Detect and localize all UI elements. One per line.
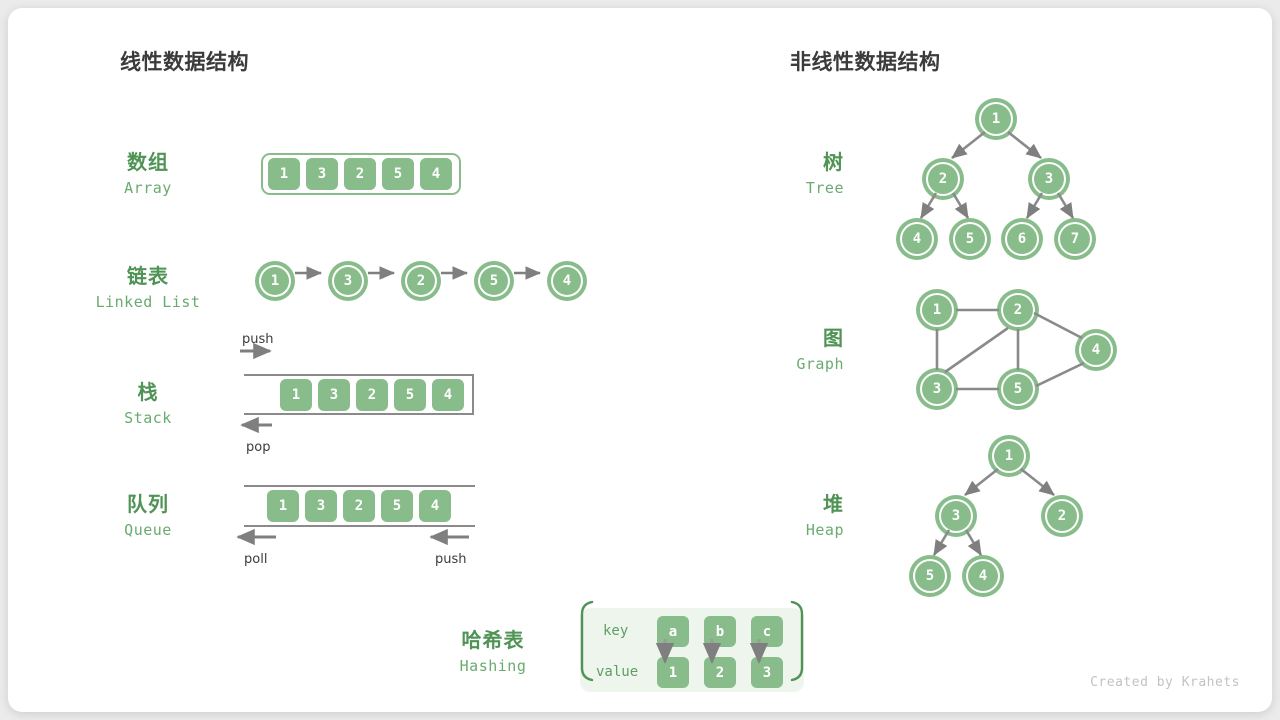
diagram-stage: 线性数据结构 非线性数据结构 数组 Array 1 3 2 5 4 链表 Lin… — [8, 8, 1272, 712]
queue-poll-label: poll — [244, 552, 267, 567]
label-queue-cn: 队列 — [88, 492, 208, 518]
label-tree-en: Tree — [708, 176, 844, 200]
label-array-cn: 数组 — [88, 150, 208, 176]
heap-node: 4 — [966, 559, 1000, 593]
heap-node: 2 — [1045, 499, 1079, 533]
queue-cell: 3 — [305, 490, 337, 522]
label-heap-en: Heap — [708, 518, 844, 542]
heading-linear-structures: 线性数据结构 — [120, 46, 249, 76]
queue-push-label: push — [435, 552, 467, 567]
tree-node: 1 — [979, 102, 1013, 136]
queue-cell: 5 — [381, 490, 413, 522]
linked-list-node: 2 — [405, 265, 437, 297]
queue-cell: 2 — [343, 490, 375, 522]
tree-node: 5 — [953, 222, 987, 256]
array-cell: 4 — [420, 158, 452, 190]
linked-list-node: 4 — [551, 265, 583, 297]
hash-key-cell: c — [751, 616, 783, 647]
tree-node: 4 — [900, 222, 934, 256]
hash-key-label: key — [603, 623, 628, 639]
tree-node: 6 — [1005, 222, 1039, 256]
label-heap: 堆 Heap — [708, 492, 844, 542]
stack-pop-label: pop — [246, 440, 270, 455]
array-cell: 3 — [306, 158, 338, 190]
array-cell: 2 — [344, 158, 376, 190]
label-hashing: 哈希表 Hashing — [418, 628, 568, 678]
stack-cell: 3 — [318, 379, 350, 411]
hash-value-cell: 1 — [657, 657, 689, 688]
hash-key-cell: a — [657, 616, 689, 647]
graph-node: 1 — [920, 293, 954, 327]
label-hashing-cn: 哈希表 — [418, 628, 568, 654]
hash-key-cell: b — [704, 616, 736, 647]
label-stack-cn: 栈 — [88, 380, 208, 406]
label-array-en: Array — [88, 176, 208, 200]
tree-node: 3 — [1032, 162, 1066, 196]
diagram-card: 线性数据结构 非线性数据结构 数组 Array 1 3 2 5 4 链表 Lin… — [8, 8, 1272, 712]
label-linked-list-cn: 链表 — [70, 264, 226, 290]
credit-text: Created by Krahets — [1090, 675, 1240, 690]
label-stack-en: Stack — [88, 406, 208, 430]
label-tree-cn: 树 — [708, 150, 844, 176]
stack-cell: 2 — [356, 379, 388, 411]
stack-cell: 5 — [394, 379, 426, 411]
linked-list-node: 3 — [332, 265, 364, 297]
label-graph-cn: 图 — [708, 326, 844, 352]
heap-node: 1 — [992, 439, 1026, 473]
label-linked-list-en: Linked List — [70, 290, 226, 314]
graph-node: 5 — [1001, 372, 1035, 406]
stack-push-label: push — [242, 332, 274, 347]
tree-node: 2 — [926, 162, 960, 196]
hash-value-cell: 2 — [704, 657, 736, 688]
linked-list-node: 5 — [478, 265, 510, 297]
label-tree: 树 Tree — [708, 150, 844, 200]
heap-node: 3 — [939, 499, 973, 533]
heap-node: 5 — [913, 559, 947, 593]
label-queue-en: Queue — [88, 518, 208, 542]
hash-value-label: value — [596, 664, 638, 680]
linked-list-node: 1 — [259, 265, 291, 297]
heading-nonlinear-structures: 非线性数据结构 — [790, 46, 941, 76]
array-cell: 1 — [268, 158, 300, 190]
label-linked-list: 链表 Linked List — [70, 264, 226, 314]
label-stack: 栈 Stack — [88, 380, 208, 430]
label-array: 数组 Array — [88, 150, 208, 200]
queue-cell: 4 — [419, 490, 451, 522]
label-graph: 图 Graph — [708, 326, 844, 376]
label-hashing-en: Hashing — [418, 654, 568, 678]
queue-cell: 1 — [267, 490, 299, 522]
stack-cell: 4 — [432, 379, 464, 411]
graph-node: 2 — [1001, 293, 1035, 327]
tree-node: 7 — [1058, 222, 1092, 256]
label-heap-cn: 堆 — [708, 492, 844, 518]
array-cell: 5 — [382, 158, 414, 190]
label-graph-en: Graph — [708, 352, 844, 376]
graph-node: 3 — [920, 372, 954, 406]
graph-node: 4 — [1079, 333, 1113, 367]
hash-value-cell: 3 — [751, 657, 783, 688]
stack-cell: 1 — [280, 379, 312, 411]
label-queue: 队列 Queue — [88, 492, 208, 542]
